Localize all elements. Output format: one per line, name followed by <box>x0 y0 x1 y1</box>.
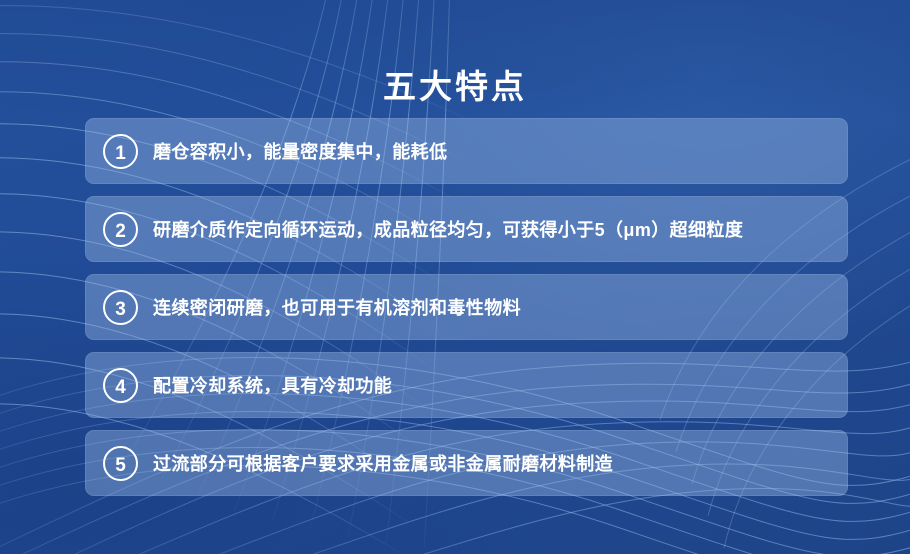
feature-list: 1 磨仓容积小，能量密度集中，能耗低 2 研磨介质作定向循环运动，成品粒径均匀，… <box>85 118 848 508</box>
feature-text-3: 连续密闭研磨，也可用于有机溶剂和毒性物料 <box>153 294 521 320</box>
feature-card-1[interactable]: 1 磨仓容积小，能量密度集中，能耗低 <box>85 118 848 184</box>
feature-card-2[interactable]: 2 研磨介质作定向循环运动，成品粒径均匀，可获得小于5（μm）超细粒度 <box>85 196 848 262</box>
feature-number-badge-3: 3 <box>103 290 138 325</box>
feature-card-4[interactable]: 4 配置冷却系统，具有冷却功能 <box>85 352 848 418</box>
feature-text-4: 配置冷却系统，具有冷却功能 <box>153 372 392 398</box>
feature-card-3[interactable]: 3 连续密闭研磨，也可用于有机溶剂和毒性物料 <box>85 274 848 340</box>
feature-number-badge-1: 1 <box>103 134 138 169</box>
feature-number-badge-5: 5 <box>103 446 138 481</box>
feature-card-5[interactable]: 5 过流部分可根据客户要求采用金属或非金属耐磨材料制造 <box>85 430 848 496</box>
feature-number-badge-2: 2 <box>103 212 138 247</box>
feature-text-1: 磨仓容积小，能量密度集中，能耗低 <box>153 138 447 164</box>
page-title: 五大特点 <box>0 60 910 108</box>
feature-text-5: 过流部分可根据客户要求采用金属或非金属耐磨材料制造 <box>153 450 613 476</box>
feature-text-2: 研磨介质作定向循环运动，成品粒径均匀，可获得小于5（μm）超细粒度 <box>153 216 743 242</box>
feature-slide: 五大特点 1 磨仓容积小，能量密度集中，能耗低 2 研磨介质作定向循环运动，成品… <box>0 0 910 554</box>
feature-number-badge-4: 4 <box>103 368 138 403</box>
